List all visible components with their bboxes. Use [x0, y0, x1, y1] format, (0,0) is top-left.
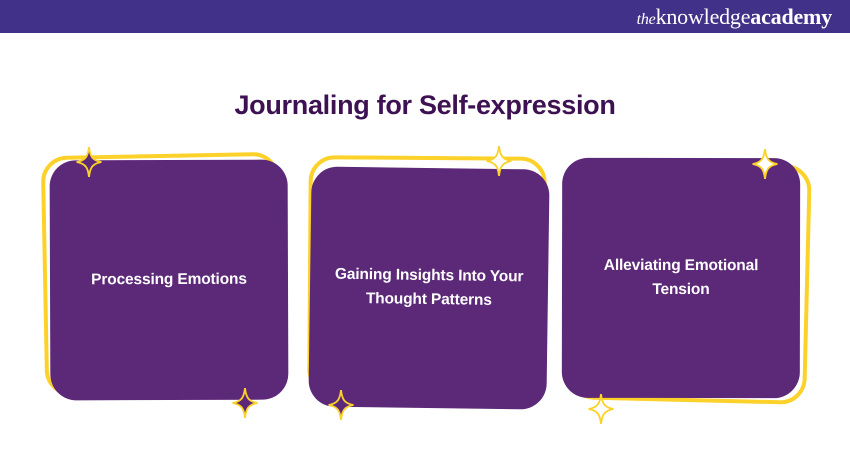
card-label: Alleviating Emotional Tension — [584, 254, 778, 302]
brand-logo-prefix: the — [637, 11, 656, 28]
card-label: Gaining Insights Into Your Thought Patte… — [332, 263, 527, 314]
page-title: Journaling for Self-expression — [0, 90, 850, 121]
header-bar: theknowledgeacademy — [0, 0, 850, 33]
card-body: Alleviating Emotional Tension — [562, 158, 800, 398]
card-list: Processing Emotions Gaining Insights Int… — [0, 148, 850, 420]
brand-logo: theknowledgeacademy — [637, 6, 832, 28]
card-alleviating-tension[interactable]: Alleviating Emotional Tension — [562, 158, 800, 398]
card-gaining-insights[interactable]: Gaining Insights Into Your Thought Patte… — [310, 168, 548, 408]
card-body: Gaining Insights Into Your Thought Patte… — [308, 166, 549, 409]
brand-logo-mid: knowledge — [656, 4, 751, 29]
brand-logo-suffix: academy — [750, 4, 832, 29]
card-body: Processing Emotions — [50, 160, 289, 401]
card-label: Processing Emotions — [91, 268, 247, 293]
card-processing-emotions[interactable]: Processing Emotions — [50, 160, 288, 400]
